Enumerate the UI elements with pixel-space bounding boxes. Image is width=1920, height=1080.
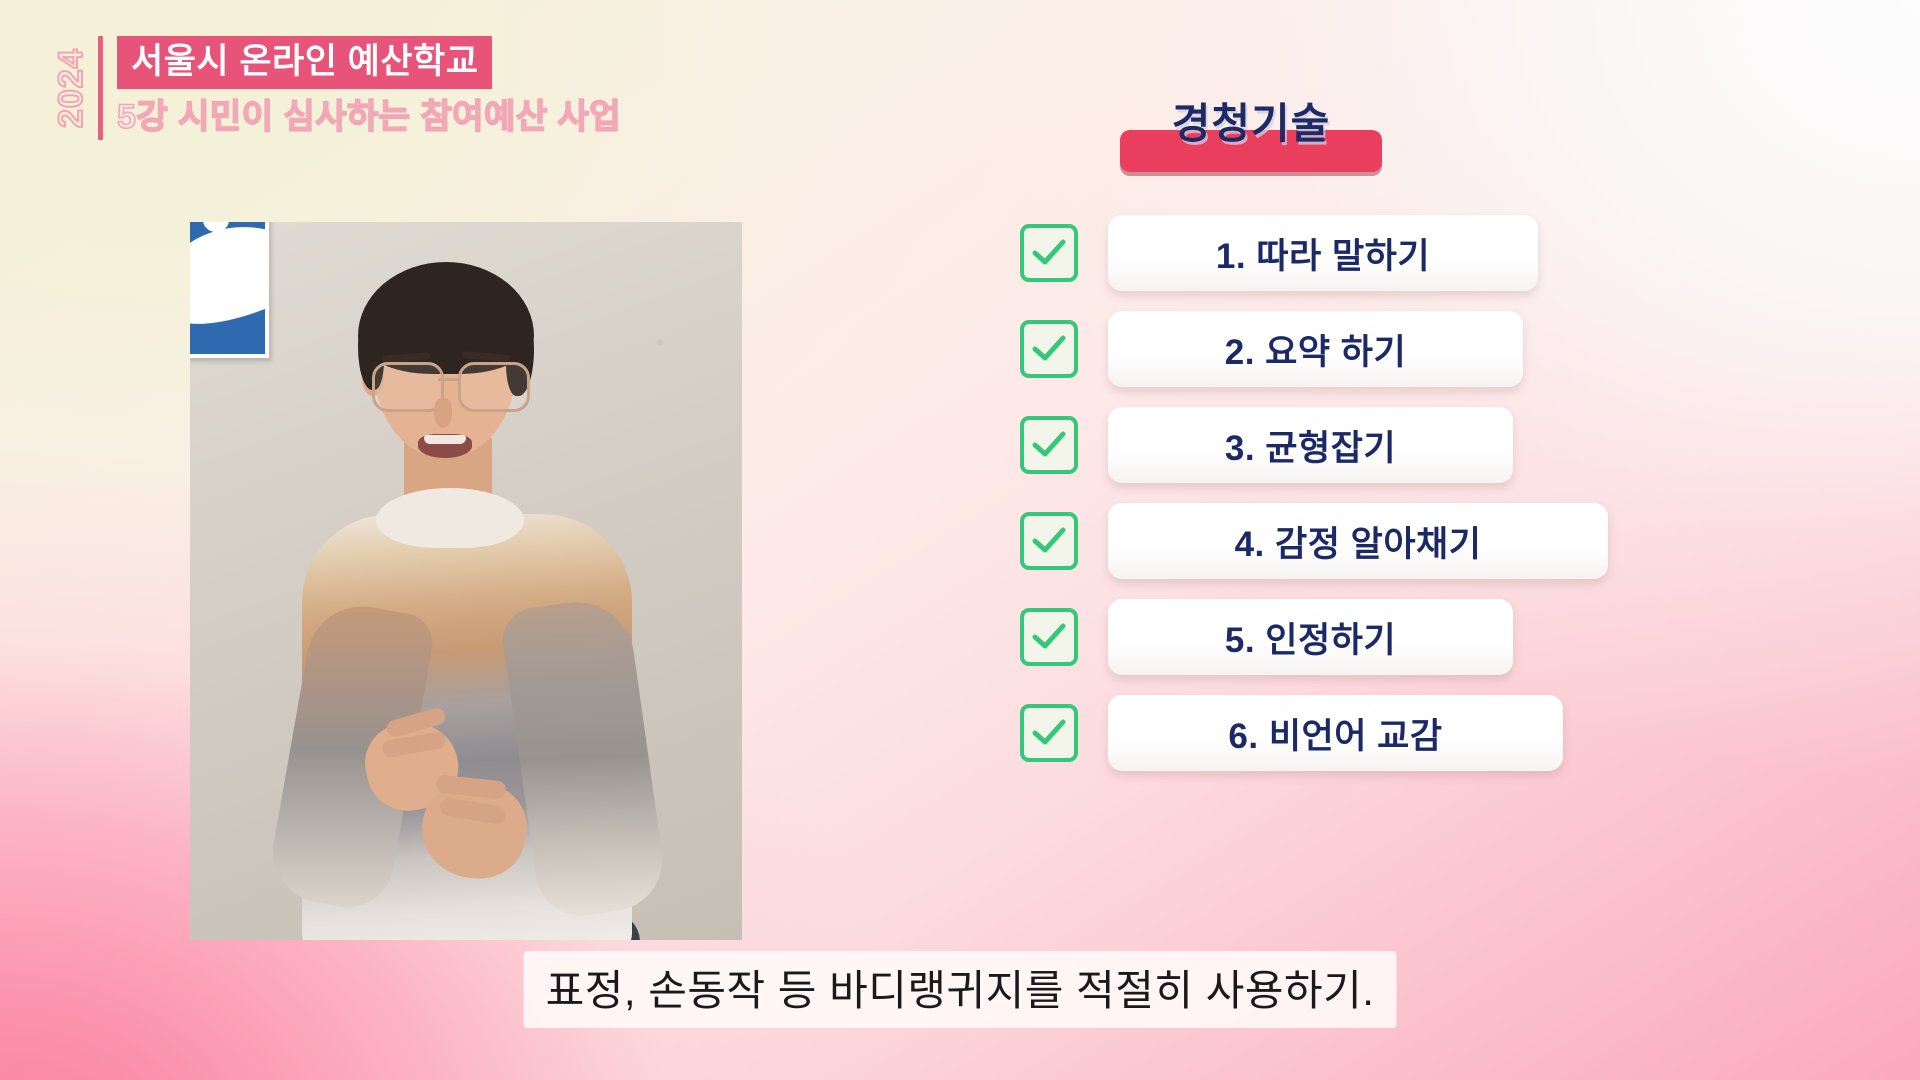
checklist-item[interactable]: 4. 감정 알아채기 bbox=[1020, 503, 1720, 579]
checklist-card[interactable]: 3. 균형잡기 bbox=[1108, 407, 1513, 483]
checklist-item-label: 1. 따라 말하기 bbox=[1190, 228, 1456, 279]
checklist-item[interactable]: 3. 균형잡기 bbox=[1020, 407, 1720, 483]
checklist-card[interactable]: 1. 따라 말하기 bbox=[1108, 215, 1538, 291]
badge-title: 경청기술 bbox=[1120, 100, 1382, 148]
check-mark-icon bbox=[1030, 716, 1068, 750]
checkbox-5[interactable] bbox=[1020, 608, 1078, 666]
slide-root: 2024 서울시 온라인 예산학교 5강 시민이 심사하는 참여예산 사업 bbox=[0, 0, 1920, 1080]
check-mark-icon bbox=[1030, 620, 1068, 654]
checklist-item-label: 6. 비언어 교감 bbox=[1202, 708, 1468, 759]
section-title-badge: 경청기술 bbox=[1120, 100, 1390, 170]
header: 2024 서울시 온라인 예산학교 5강 시민이 심사하는 참여예산 사업 bbox=[52, 36, 621, 144]
check-mark-icon bbox=[1030, 524, 1068, 558]
checkbox-2[interactable] bbox=[1020, 320, 1078, 378]
video-panel bbox=[190, 222, 742, 940]
checklist-item[interactable]: 5. 인정하기 bbox=[1020, 599, 1720, 675]
subtitle-caption: 표정, 손동작 등 바디랭귀지를 적절히 사용하기. bbox=[524, 951, 1397, 1028]
checklist-item-label: 2. 요약 하기 bbox=[1199, 324, 1432, 375]
checklist-card[interactable]: 4. 감정 알아채기 bbox=[1108, 503, 1608, 579]
header-title: 서울시 온라인 예산학교 bbox=[117, 36, 492, 89]
header-divider-bar bbox=[98, 36, 103, 140]
check-mark-icon bbox=[1030, 236, 1068, 270]
checkbox-1[interactable] bbox=[1020, 224, 1078, 282]
checklist-item[interactable]: 6. 비언어 교감 bbox=[1020, 695, 1720, 771]
check-mark-icon bbox=[1030, 428, 1068, 462]
checklist: 1. 따라 말하기2. 요약 하기3. 균형잡기4. 감정 알아채기5. 인정하… bbox=[1020, 215, 1720, 791]
checklist-card[interactable]: 2. 요약 하기 bbox=[1108, 311, 1523, 387]
header-text-group: 서울시 온라인 예산학교 5강 시민이 심사하는 참여예산 사업 bbox=[117, 36, 621, 144]
checklist-item-label: 4. 감정 알아채기 bbox=[1209, 516, 1508, 567]
checkbox-6[interactable] bbox=[1020, 704, 1078, 762]
checklist-card[interactable]: 6. 비언어 교감 bbox=[1108, 695, 1563, 771]
checklist-item[interactable]: 1. 따라 말하기 bbox=[1020, 215, 1720, 291]
check-mark-icon bbox=[1030, 332, 1068, 366]
lecturer-figure bbox=[190, 222, 742, 940]
checkbox-4[interactable] bbox=[1020, 512, 1078, 570]
header-year: 2024 bbox=[52, 36, 88, 140]
checklist-item-label: 5. 인정하기 bbox=[1199, 612, 1422, 663]
checklist-item-label: 3. 균형잡기 bbox=[1199, 420, 1422, 471]
checklist-item[interactable]: 2. 요약 하기 bbox=[1020, 311, 1720, 387]
checkbox-3[interactable] bbox=[1020, 416, 1078, 474]
header-subtitle: 5강 시민이 심사하는 참여예산 사업 bbox=[117, 100, 621, 134]
checklist-card[interactable]: 5. 인정하기 bbox=[1108, 599, 1513, 675]
